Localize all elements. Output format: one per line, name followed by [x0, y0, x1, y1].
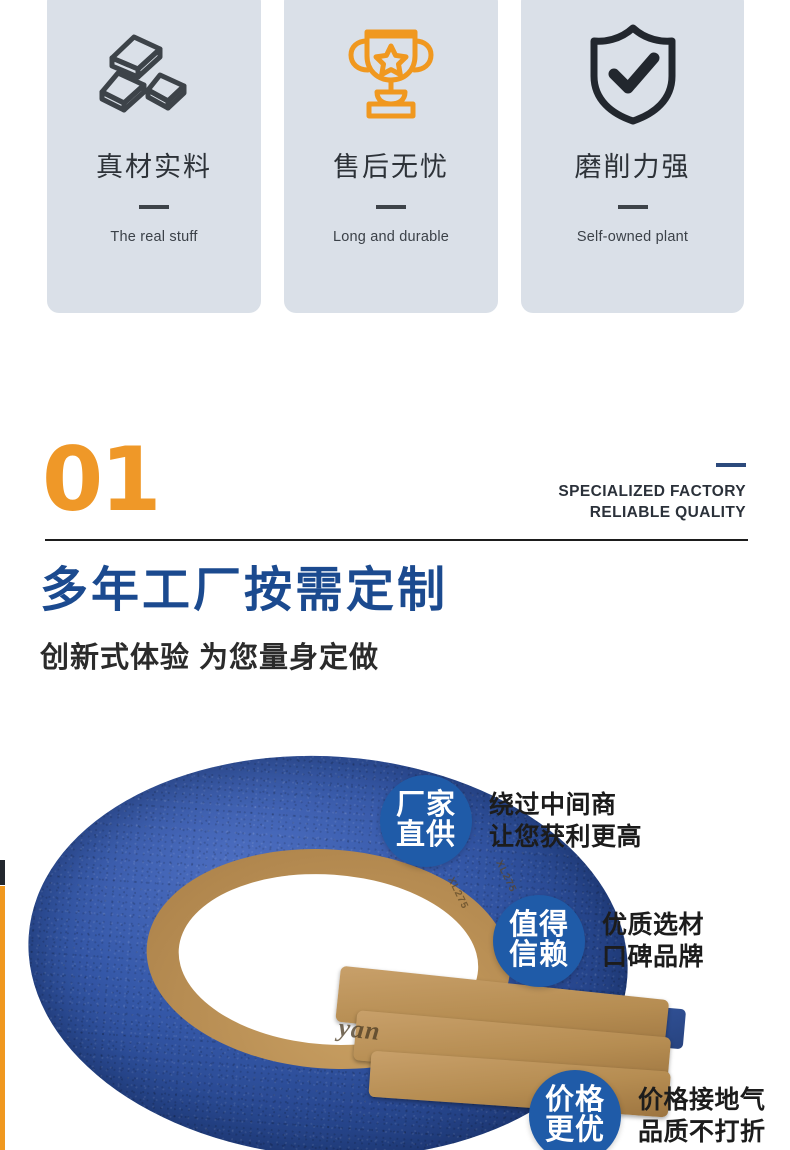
- badge-circle-line-1: 价格: [545, 1086, 605, 1116]
- badge-circle-line-1: 厂家: [396, 791, 456, 821]
- feature-card-subtitle: The real stuff: [110, 229, 197, 245]
- section-header: 01 SPECIALIZED FACTORY RELIABLE QUALITY: [0, 440, 790, 550]
- feature-card-title: 磨削力强: [575, 154, 691, 181]
- feature-card-real-material[interactable]: 真材实料 The real stuff: [47, 0, 261, 313]
- badge-description: 优质选材 口碑品牌: [602, 909, 704, 973]
- shield-check-icon: [584, 4, 682, 144]
- badge-better-price[interactable]: 价格 更优 价格接地气 品质不打折: [529, 1070, 766, 1150]
- badge-factory-direct[interactable]: 厂家 直供 绕过中间商 让您获利更高: [380, 775, 642, 867]
- badge-circle: 价格 更优: [529, 1070, 621, 1150]
- feature-card-subtitle: Self-owned plant: [577, 229, 688, 245]
- feature-card-divider: [618, 205, 648, 209]
- badge-description-line-2: 让您获利更高: [489, 821, 642, 853]
- badge-circle: 值得 信赖: [493, 895, 585, 987]
- badge-circle-line-2: 更优: [545, 1116, 605, 1146]
- page-headline: 多年工厂按需定制: [40, 566, 448, 616]
- badge-circle-line-1: 值得: [509, 911, 569, 941]
- section-english-tagline: SPECIALIZED FACTORY RELIABLE QUALITY: [558, 482, 746, 524]
- badge-description-line-2: 品质不打折: [638, 1116, 766, 1148]
- badge-circle-line-2: 直供: [396, 821, 456, 851]
- trophy-icon: [343, 4, 439, 144]
- feature-card-title: 售后无忧: [333, 154, 449, 181]
- badge-description-line-2: 口碑品牌: [602, 941, 704, 973]
- badge-description-line-1: 绕过中间商: [489, 789, 642, 821]
- feature-card-grinding-power[interactable]: 磨削力强 Self-owned plant: [521, 0, 744, 313]
- section-divider-rule: [45, 539, 748, 541]
- section-english-line-2: RELIABLE QUALITY: [558, 503, 746, 524]
- belt-brand-text: yan: [337, 1013, 382, 1047]
- badge-circle: 厂家 直供: [380, 775, 472, 867]
- feature-card-divider: [376, 205, 406, 209]
- badge-circle-line-2: 信赖: [509, 941, 569, 971]
- badge-trustworthy[interactable]: 值得 信赖 优质选材 口碑品牌: [493, 895, 704, 987]
- left-edge-orange-bar: [0, 886, 5, 1150]
- badge-description-line-1: 优质选材: [602, 909, 704, 941]
- badge-description: 价格接地气 品质不打折: [638, 1084, 766, 1148]
- feature-card-divider: [139, 205, 169, 209]
- product-detail-page: 真材实料 The real stuff 售后无忧 Long and dur: [0, 0, 790, 1150]
- section-number: 01: [42, 436, 158, 524]
- section-accent-dash: [716, 463, 746, 467]
- feature-card-subtitle: Long and durable: [333, 229, 449, 245]
- page-subheadline: 创新式体验 为您量身定做: [40, 643, 379, 675]
- section-english-line-1: SPECIALIZED FACTORY: [558, 482, 746, 503]
- feature-card-title: 真材实料: [96, 154, 212, 181]
- left-edge-dark-marker: [0, 860, 5, 885]
- badge-description-line-1: 价格接地气: [638, 1084, 766, 1116]
- sanding-belt-photo: yan XL275 XL275 厂家 直供 绕过中间商 让您获利更高 值得 信赖…: [0, 700, 790, 1150]
- feature-cards-row: 真材实料 The real stuff 售后无忧 Long and dur: [0, 0, 790, 315]
- feature-card-after-sales[interactable]: 售后无忧 Long and durable: [284, 0, 498, 313]
- badge-description: 绕过中间商 让您获利更高: [489, 789, 642, 853]
- gold-bars-icon: [98, 4, 210, 144]
